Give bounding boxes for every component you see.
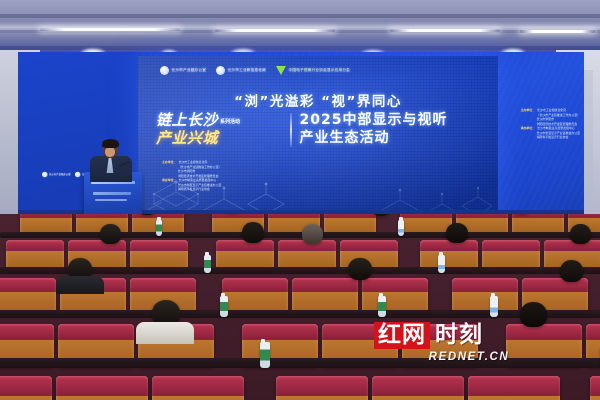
led-logo-row: 长沙市产业链办公室 长沙市工业和信息化局 中国电子视像行业协会显示应用分会 bbox=[160, 66, 350, 75]
star-badge-icon bbox=[42, 172, 48, 178]
seat-cushion bbox=[6, 240, 64, 251]
ceiling-light-strip bbox=[390, 29, 500, 32]
seat bbox=[276, 376, 368, 400]
ceiling-light-strip bbox=[215, 29, 335, 32]
water-bottle bbox=[204, 255, 211, 273]
seat-cushion bbox=[512, 214, 564, 218]
logo-chip-display-association: 中国电子视像行业协会显示应用分会 bbox=[276, 66, 350, 75]
seat-cushion bbox=[152, 376, 244, 396]
event-title-block: 链上长沙系列活动 产业兴城 2025中部显示与视听 产业生态活动 bbox=[156, 112, 480, 147]
seat bbox=[0, 278, 56, 314]
circle-seal-icon bbox=[216, 66, 225, 75]
green-check-icon bbox=[276, 66, 286, 75]
main-title: 2025中部显示与视听 产业生态活动 bbox=[300, 112, 481, 147]
seat-cushion bbox=[130, 278, 196, 292]
seat-cushion bbox=[362, 278, 428, 292]
watermark-logo-row: 红网 时刻 bbox=[374, 322, 564, 349]
desk-ledge bbox=[0, 310, 600, 318]
ceiling-light-strip bbox=[520, 30, 595, 33]
logo-label: 中国电子视像行业协会显示应用分会 bbox=[289, 69, 351, 73]
seat bbox=[362, 278, 428, 314]
cohost-item: 湖南省平板显示行业协会 bbox=[521, 135, 580, 140]
series-title-suffix: 系列活动 bbox=[220, 119, 240, 125]
star-badge-icon bbox=[160, 66, 169, 75]
seat-cushion bbox=[590, 376, 600, 396]
water-bottle bbox=[398, 220, 404, 236]
cohost-item: 长沙市制造业高质量发展中心 bbox=[178, 178, 216, 182]
seat-cushion bbox=[452, 278, 518, 292]
water-bottle bbox=[438, 255, 445, 273]
logo-label: 长沙市产业链办公室 bbox=[172, 69, 207, 73]
seat-cushion bbox=[130, 240, 188, 251]
seat-cushion bbox=[456, 214, 508, 218]
wing-logo-chip: 长沙市产业链办公室 bbox=[42, 172, 71, 178]
water-bottle bbox=[260, 342, 270, 368]
seat-cushion bbox=[222, 278, 288, 292]
seat-cushion bbox=[242, 324, 318, 340]
seat-cushion bbox=[324, 214, 376, 218]
watermark-brand-red-box: 红网 bbox=[374, 322, 430, 349]
ceiling-light-strip bbox=[40, 28, 180, 31]
series-title-line2: 产业兴城 bbox=[156, 130, 282, 147]
seat bbox=[6, 240, 64, 270]
seat-cushion bbox=[20, 214, 72, 218]
watermark-brand-white-text: 时刻 bbox=[435, 324, 483, 347]
seat bbox=[590, 376, 600, 400]
speaker-face bbox=[105, 147, 115, 157]
main-title-line2: 产业生态活动 bbox=[300, 130, 481, 148]
seat bbox=[0, 376, 52, 400]
attendee-shoulders bbox=[56, 276, 104, 294]
water-bottle bbox=[220, 296, 228, 317]
host-label: 主办单位： bbox=[162, 160, 176, 164]
wing-logo-label: 长沙市产业链办公室 bbox=[49, 173, 70, 175]
seat-cushion bbox=[58, 324, 134, 340]
seat-cushion bbox=[216, 240, 274, 251]
cohost-item: 湖南省平板显示行业协会 bbox=[162, 187, 221, 192]
seat bbox=[324, 214, 376, 234]
logo-chip-industry-chain: 长沙市产业链办公室 bbox=[160, 66, 206, 75]
organizers-left-cohost-line: 承办单位：长沙市制造业高质量发展中心 bbox=[162, 178, 221, 183]
main-title-line1: 2025中部显示与视听 bbox=[300, 112, 481, 130]
water-bottle bbox=[156, 220, 162, 236]
host-item: 长沙市工业和信息化局 bbox=[178, 160, 207, 164]
series-title-line1: 链上长沙系列活动 bbox=[156, 113, 282, 129]
title-divider bbox=[290, 113, 292, 147]
cohost-label: 承办单位： bbox=[521, 126, 535, 130]
led-screen: 长沙市产业链办公室 长沙市工业和信息化局 中国电子视像行业协会显示应用分会 “浏… bbox=[138, 56, 498, 224]
seat-cushion bbox=[468, 376, 560, 396]
attendee-head bbox=[302, 224, 323, 244]
watermark-brand-white-box: 时刻 bbox=[433, 322, 485, 349]
seat bbox=[452, 278, 518, 314]
seat bbox=[468, 376, 560, 400]
lectern-branding-line bbox=[95, 199, 127, 201]
attendee-head bbox=[348, 258, 372, 280]
seat-cushion bbox=[0, 376, 52, 396]
attendee-head bbox=[242, 222, 264, 243]
seat bbox=[216, 240, 274, 270]
desk-ledge bbox=[0, 232, 600, 238]
logo-label: 长沙市工业和信息化局 bbox=[228, 69, 266, 73]
seat bbox=[400, 214, 452, 234]
watermark-brand-red-text: 红网 bbox=[378, 324, 426, 347]
seat bbox=[56, 376, 148, 400]
seat-cushion bbox=[276, 376, 368, 396]
seat-cushion bbox=[268, 214, 320, 218]
seat bbox=[152, 376, 244, 400]
seat bbox=[130, 240, 188, 270]
bottle-cap bbox=[439, 252, 443, 256]
event-headline: “浏”光溢彩 “视”界同心 bbox=[138, 90, 498, 110]
circle-seal-icon bbox=[75, 172, 81, 178]
attendee-shoulders bbox=[136, 322, 194, 344]
seat-cushion bbox=[212, 214, 264, 218]
organizers-left-block: 主办单位：长沙市工业和信息化局 （长沙市产业链推进工作办公室） 长沙市浏阳市 浏… bbox=[162, 160, 221, 192]
cohost-label: 承办单位： bbox=[162, 178, 176, 182]
seat bbox=[292, 278, 358, 314]
seat-cushion bbox=[56, 376, 148, 396]
conference-hall-photo: 长沙市产业链办公室 长沙市工业和信息化局 中国电子视像行业协会显示应用分会 bbox=[0, 0, 600, 400]
seat-cushion bbox=[586, 324, 600, 340]
bottle-cap bbox=[221, 293, 225, 297]
bottle-cap bbox=[379, 293, 383, 297]
host-item: 长沙市工业和信息化局 bbox=[537, 108, 566, 112]
organizers-right-block: 主办单位：长沙市工业和信息化局 （长沙市产业链推进工作办公室） 长沙市浏阳市 浏… bbox=[521, 108, 580, 140]
seat bbox=[222, 278, 288, 314]
seat-cushion bbox=[76, 214, 128, 218]
seat-cushion bbox=[0, 324, 54, 340]
lectern-branding-line bbox=[93, 192, 131, 195]
seat bbox=[278, 240, 336, 270]
watermark: 红网 时刻 REDNET.CN bbox=[374, 322, 564, 363]
attendee-head bbox=[446, 223, 468, 243]
cohost-item: 长沙市制造业高质量发展中心 bbox=[537, 126, 575, 130]
seat-cushion bbox=[372, 376, 464, 396]
seat-cushion bbox=[400, 214, 452, 218]
logo-chip-miit: 长沙市工业和信息化局 bbox=[216, 66, 266, 75]
seat-cushion bbox=[0, 278, 56, 292]
seat-cushion bbox=[482, 240, 540, 251]
seat bbox=[372, 376, 464, 400]
bottle-cap bbox=[491, 293, 495, 297]
attendee-head bbox=[570, 224, 591, 244]
bottle-cap bbox=[261, 339, 265, 343]
speaker-hair bbox=[102, 139, 119, 148]
organizers-right-cohost-line: 承办单位：长沙市制造业高质量发展中心 bbox=[521, 126, 580, 131]
seat bbox=[482, 240, 540, 270]
ceiling-beam bbox=[0, 14, 600, 18]
bottle-cap bbox=[157, 217, 161, 221]
seat-cushion bbox=[340, 240, 398, 251]
seat-cushion bbox=[292, 278, 358, 292]
audience-seating bbox=[0, 214, 600, 400]
attendee-head bbox=[560, 260, 583, 282]
seat bbox=[20, 214, 72, 234]
water-bottle bbox=[490, 296, 498, 317]
attendee-head bbox=[100, 224, 121, 244]
seat bbox=[512, 214, 564, 234]
bottle-cap bbox=[205, 252, 209, 256]
watermark-domain: REDNET.CN bbox=[374, 351, 564, 363]
bottle-cap bbox=[399, 217, 403, 221]
seat-cushion bbox=[568, 214, 600, 218]
series-title: 链上长沙系列活动 产业兴城 bbox=[156, 113, 282, 146]
seat bbox=[420, 240, 478, 270]
host-label: 主办单位： bbox=[521, 108, 535, 112]
series-title-main: 链上长沙 bbox=[156, 111, 218, 129]
water-bottle bbox=[378, 296, 386, 317]
